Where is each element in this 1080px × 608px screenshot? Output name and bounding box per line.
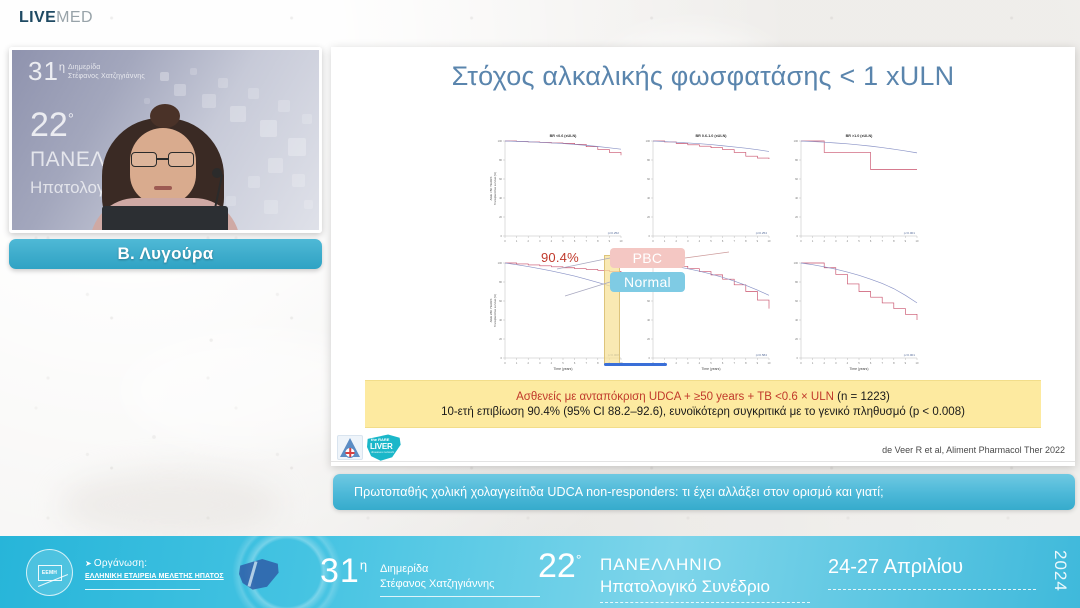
backdrop-edition-subtitle: Διημερίδα Στέφανος Χατζηγιάννης	[68, 63, 145, 82]
km-panel: BR >1.0 (xULN)020406080100012345678910p<…	[794, 134, 919, 243]
svg-text:7: 7	[881, 361, 883, 365]
svg-text:10: 10	[768, 361, 771, 365]
speaker-video[interactable]: 31η Διημερίδα Στέφανος Χατζηγιάννης 22° …	[9, 47, 322, 233]
svg-text:3: 3	[835, 239, 837, 243]
backdrop-congress-number: 22°	[30, 108, 74, 142]
svg-text:6: 6	[574, 361, 576, 365]
svg-text:10: 10	[768, 239, 771, 243]
svg-text:5: 5	[562, 361, 564, 365]
svg-text:Transplant-free survival (%): Transplant-free survival (%)	[493, 172, 497, 205]
svg-text:40: 40	[795, 196, 798, 200]
aih-logo-icon	[337, 435, 363, 460]
svg-text:9: 9	[905, 239, 907, 243]
km-curve-normal	[801, 263, 917, 303]
svg-text:2: 2	[823, 361, 825, 365]
svg-text:1: 1	[664, 239, 666, 243]
svg-text:0: 0	[649, 234, 651, 238]
svg-text:5: 5	[858, 239, 860, 243]
svg-text:8: 8	[597, 239, 599, 243]
svg-text:20: 20	[647, 215, 650, 219]
citation-text: de Veer R et al, Aliment Pharmacol Ther …	[882, 445, 1065, 455]
km-curve-normal	[801, 141, 917, 153]
svg-text:60: 60	[499, 299, 502, 303]
svg-text:10: 10	[620, 239, 623, 243]
svg-text:60: 60	[795, 177, 798, 181]
rare-liver-logo-icon: the RARE LIVER diseases network	[367, 434, 401, 461]
footer-congress-sup: °	[576, 552, 582, 568]
edition-sub1: Διημερίδα	[68, 63, 145, 72]
km-panel: BR 0.6-1.0 (xULN)02040608010001234567891…	[646, 134, 771, 243]
svg-text:5: 5	[710, 239, 712, 243]
key-findings-n: (n = 1223)	[837, 391, 890, 403]
svg-text:6: 6	[574, 239, 576, 243]
svg-text:20: 20	[795, 337, 798, 341]
footer-dates: 24-27 Απριλίου	[828, 556, 963, 579]
svg-text:2: 2	[527, 361, 529, 365]
svg-text:6: 6	[722, 361, 724, 365]
svg-text:80: 80	[795, 158, 798, 162]
svg-text:100: 100	[646, 139, 651, 143]
svg-text:7: 7	[733, 361, 735, 365]
organizer-label: ➤Οργάνωση:	[85, 558, 224, 569]
svg-text:8: 8	[745, 361, 747, 365]
glasses-icon	[130, 152, 196, 168]
organizer-arrow-icon: ➤	[85, 559, 92, 568]
svg-text:4: 4	[847, 239, 849, 243]
footer-edition-rule	[380, 596, 540, 597]
svg-text:100: 100	[498, 139, 503, 143]
microphone-icon	[212, 168, 222, 178]
svg-text:4: 4	[551, 361, 553, 365]
svg-text:4: 4	[699, 361, 701, 365]
footer-congress-block: 22° ΠΑΝΕΛΛΗΝΙΟ Ηπατολογικό Συνέδριο	[538, 549, 581, 583]
footer-congress-number-text: 22	[538, 547, 576, 585]
svg-text:8: 8	[893, 239, 895, 243]
panel-column-title: BR >1.0 (xULN)	[846, 134, 874, 138]
footer-edition-block: 31η Διημερίδα Στέφανος Χατζηγιάννης	[320, 554, 368, 588]
footer-edition-subtitle: Διημερίδα Στέφανος Χατζηγιάννης	[380, 562, 494, 593]
svg-text:9: 9	[757, 239, 759, 243]
svg-text:100: 100	[498, 261, 503, 265]
edition-sup-text: η	[59, 61, 66, 73]
svg-text:0: 0	[501, 234, 503, 238]
footer-congress-line1: ΠΑΝΕΛΛΗΝΙΟ	[600, 555, 722, 575]
svg-text:9: 9	[757, 361, 759, 365]
svg-text:7: 7	[881, 239, 883, 243]
key-findings-line2: 10-ετή επιβίωση 90.4% (95% CI 88.2–92.6)…	[441, 406, 965, 418]
organizer-name: ΕΛΛΗΝΙΚΗ ΕΤΑΙΡΕΙΑ ΜΕΛΕΤΗΣ ΗΠΑΤΟΣ	[85, 573, 224, 580]
svg-text:7: 7	[733, 239, 735, 243]
svg-text:Transplant-free survival (%): Transplant-free survival (%)	[493, 294, 497, 327]
svg-text:8: 8	[745, 239, 747, 243]
speaker-figure	[94, 102, 234, 233]
congress-footer: ΕΕΜΗ ➤Οργάνωση: ΕΛΛΗΝΙΚΗ ΕΤΑΙΡΕΙΑ ΜΕΛΕΤΗ…	[0, 536, 1080, 608]
svg-text:5: 5	[562, 239, 564, 243]
svg-text:7: 7	[585, 361, 587, 365]
footer-edition-number: 31η	[320, 554, 368, 588]
panel-pvalue: p=0.254	[756, 231, 768, 235]
slide-divider	[331, 461, 1075, 462]
svg-text:7: 7	[585, 239, 587, 243]
timeline-marker-bar	[604, 363, 667, 366]
svg-text:9: 9	[905, 361, 907, 365]
svg-text:1: 1	[516, 239, 518, 243]
footer-congress-dash	[600, 602, 810, 603]
svg-text:1: 1	[812, 361, 814, 365]
backdrop-edition-number: 31η	[28, 58, 66, 84]
panel-x-axis-label: Time (years)	[554, 367, 573, 371]
svg-text:2: 2	[527, 239, 529, 243]
svg-text:60: 60	[647, 177, 650, 181]
slide-footer: the RARE LIVER diseases network de Veer …	[331, 430, 1075, 466]
km-panel: 020406080100012345678910Time (years)p<0.…	[794, 261, 919, 371]
svg-text:0: 0	[797, 234, 799, 238]
kaplan-meier-figure: BR <0.6 (xULN)020406080100012345678910AG…	[479, 132, 924, 377]
svg-text:40: 40	[647, 196, 650, 200]
organizer-label-text: Οργάνωση:	[94, 558, 147, 569]
footer-year: 2024	[1050, 550, 1070, 592]
svg-text:3: 3	[835, 361, 837, 365]
footer-edition-sub2: Στέφανος Χατζηγιάννης	[380, 577, 494, 592]
eemh-acronym: ΕΕΜΗ	[38, 565, 62, 581]
svg-text:60: 60	[795, 299, 798, 303]
footer-congress-number: 22°	[538, 549, 581, 583]
km-curve-pbc	[801, 263, 917, 320]
svg-text:2: 2	[675, 239, 677, 243]
presentation-slide[interactable]: Στόχος αλκαλικής φωσφατάσης < 1 xULN BR …	[331, 47, 1075, 466]
svg-text:0: 0	[504, 361, 506, 365]
svg-text:60: 60	[499, 177, 502, 181]
topic-banner: Πρωτοπαθής χολική χολαγγειίτιδα UDCA non…	[333, 474, 1075, 510]
svg-text:4: 4	[551, 239, 553, 243]
svg-text:3: 3	[687, 361, 689, 365]
svg-text:0: 0	[797, 356, 799, 360]
svg-text:10: 10	[916, 361, 919, 365]
panel-x-axis-label: Time (years)	[850, 367, 869, 371]
edition-sub2: Στέφανος Χατζηγιάννης	[68, 72, 145, 81]
livemed-logo: LIVEMED	[19, 9, 93, 27]
svg-text:80: 80	[499, 158, 502, 162]
congress-sup-text: °	[68, 111, 74, 128]
km-curve-normal	[505, 141, 621, 149]
svg-text:80: 80	[647, 158, 650, 162]
km-curve-pbc	[801, 141, 917, 170]
footer-congress-line2: Ηπατολογικό Συνέδριο	[600, 577, 770, 597]
svg-text:1: 1	[812, 239, 814, 243]
edition-number-text: 31	[28, 56, 59, 86]
panel-y-axis-label: AGE <50 YEARS	[489, 177, 493, 201]
key-findings-box: Ασθενείς με ανταπόκριση UDCA + ≥50 years…	[365, 380, 1041, 428]
panel-pvalue: p=0.252	[608, 231, 620, 235]
svg-text:3: 3	[539, 239, 541, 243]
svg-text:40: 40	[795, 318, 798, 322]
footer-edition-sup: η	[360, 558, 368, 573]
svg-text:0: 0	[800, 239, 802, 243]
svg-text:5: 5	[858, 361, 860, 365]
svg-text:6: 6	[870, 239, 872, 243]
rare-logo-line3: diseases network	[371, 451, 394, 455]
svg-text:40: 40	[499, 318, 502, 322]
panel-column-title: BR <0.6 (xULN)	[550, 134, 578, 138]
panel-pvalue: p<0.001	[904, 231, 916, 235]
svg-text:10: 10	[916, 239, 919, 243]
organizer-rule	[85, 589, 200, 590]
panel-column-title: BR 0.6-1.0 (xULN)	[696, 134, 728, 138]
svg-text:0: 0	[504, 239, 506, 243]
key-findings-line1: Ασθενείς με ανταπόκριση UDCA + ≥50 years…	[516, 391, 890, 403]
km-curve-pbc	[653, 141, 769, 159]
key-findings-population: Ασθενείς με ανταπόκριση UDCA + ≥50 years…	[516, 391, 837, 403]
km-panel: 020406080100012345678910AGE ≥50 YEARSTra…	[489, 261, 623, 371]
brand-live-text: LIVE	[19, 9, 56, 26]
svg-text:100: 100	[794, 139, 799, 143]
panel-x-axis-label: Time (years)	[702, 367, 721, 371]
svg-text:20: 20	[795, 215, 798, 219]
svg-text:4: 4	[699, 239, 701, 243]
km-curve-pbc	[505, 141, 621, 155]
svg-text:8: 8	[893, 361, 895, 365]
brand-med-text: MED	[56, 9, 93, 26]
svg-text:80: 80	[795, 280, 798, 284]
organizer-block: ➤Οργάνωση: ΕΛΛΗΝΙΚΗ ΕΤΑΙΡΕΙΑ ΜΕΛΕΤΗΣ ΗΠΑ…	[85, 558, 224, 590]
panel-pvalue: p<0.001	[904, 353, 916, 357]
svg-text:1: 1	[516, 361, 518, 365]
speaker-name-banner: Β. Λυγούρα	[9, 239, 322, 269]
laptop-screen	[102, 206, 228, 233]
legend-pbc: PBC	[610, 248, 685, 268]
congress-number-text: 22	[30, 106, 68, 144]
svg-text:20: 20	[499, 215, 502, 219]
panel-pvalue: p=0.584	[756, 353, 768, 357]
svg-text:100: 100	[794, 261, 799, 265]
footer-edition-sub1: Διημερίδα	[380, 562, 494, 577]
svg-text:0: 0	[649, 356, 651, 360]
legend-normal: Normal	[610, 272, 685, 292]
svg-text:0: 0	[800, 361, 802, 365]
footer-edition-number-text: 31	[320, 552, 360, 590]
svg-text:9: 9	[609, 239, 611, 243]
svg-text:40: 40	[647, 318, 650, 322]
svg-text:3: 3	[539, 361, 541, 365]
footer-dates-dash	[828, 589, 1036, 590]
km-panel: BR <0.6 (xULN)020406080100012345678910AG…	[489, 134, 623, 243]
svg-text:40: 40	[499, 196, 502, 200]
svg-text:6: 6	[722, 239, 724, 243]
eemh-society-logo: ΕΕΜΗ	[26, 549, 73, 596]
panel-y-axis-label: AGE ≥50 YEARS	[489, 299, 493, 323]
svg-text:80: 80	[499, 280, 502, 284]
svg-text:20: 20	[647, 337, 650, 341]
svg-text:3: 3	[687, 239, 689, 243]
slide-title: Στόχος αλκαλικής φωσφατάσης < 1 xULN	[331, 61, 1075, 92]
svg-text:0: 0	[501, 356, 503, 360]
svg-text:2: 2	[823, 239, 825, 243]
svg-text:20: 20	[499, 337, 502, 341]
svg-text:4: 4	[847, 361, 849, 365]
survival-annotation: 90.4%	[541, 250, 579, 265]
svg-text:2: 2	[675, 361, 677, 365]
svg-text:60: 60	[647, 299, 650, 303]
svg-text:8: 8	[597, 361, 599, 365]
svg-text:5: 5	[710, 361, 712, 365]
svg-text:6: 6	[870, 361, 872, 365]
svg-text:0: 0	[652, 239, 654, 243]
